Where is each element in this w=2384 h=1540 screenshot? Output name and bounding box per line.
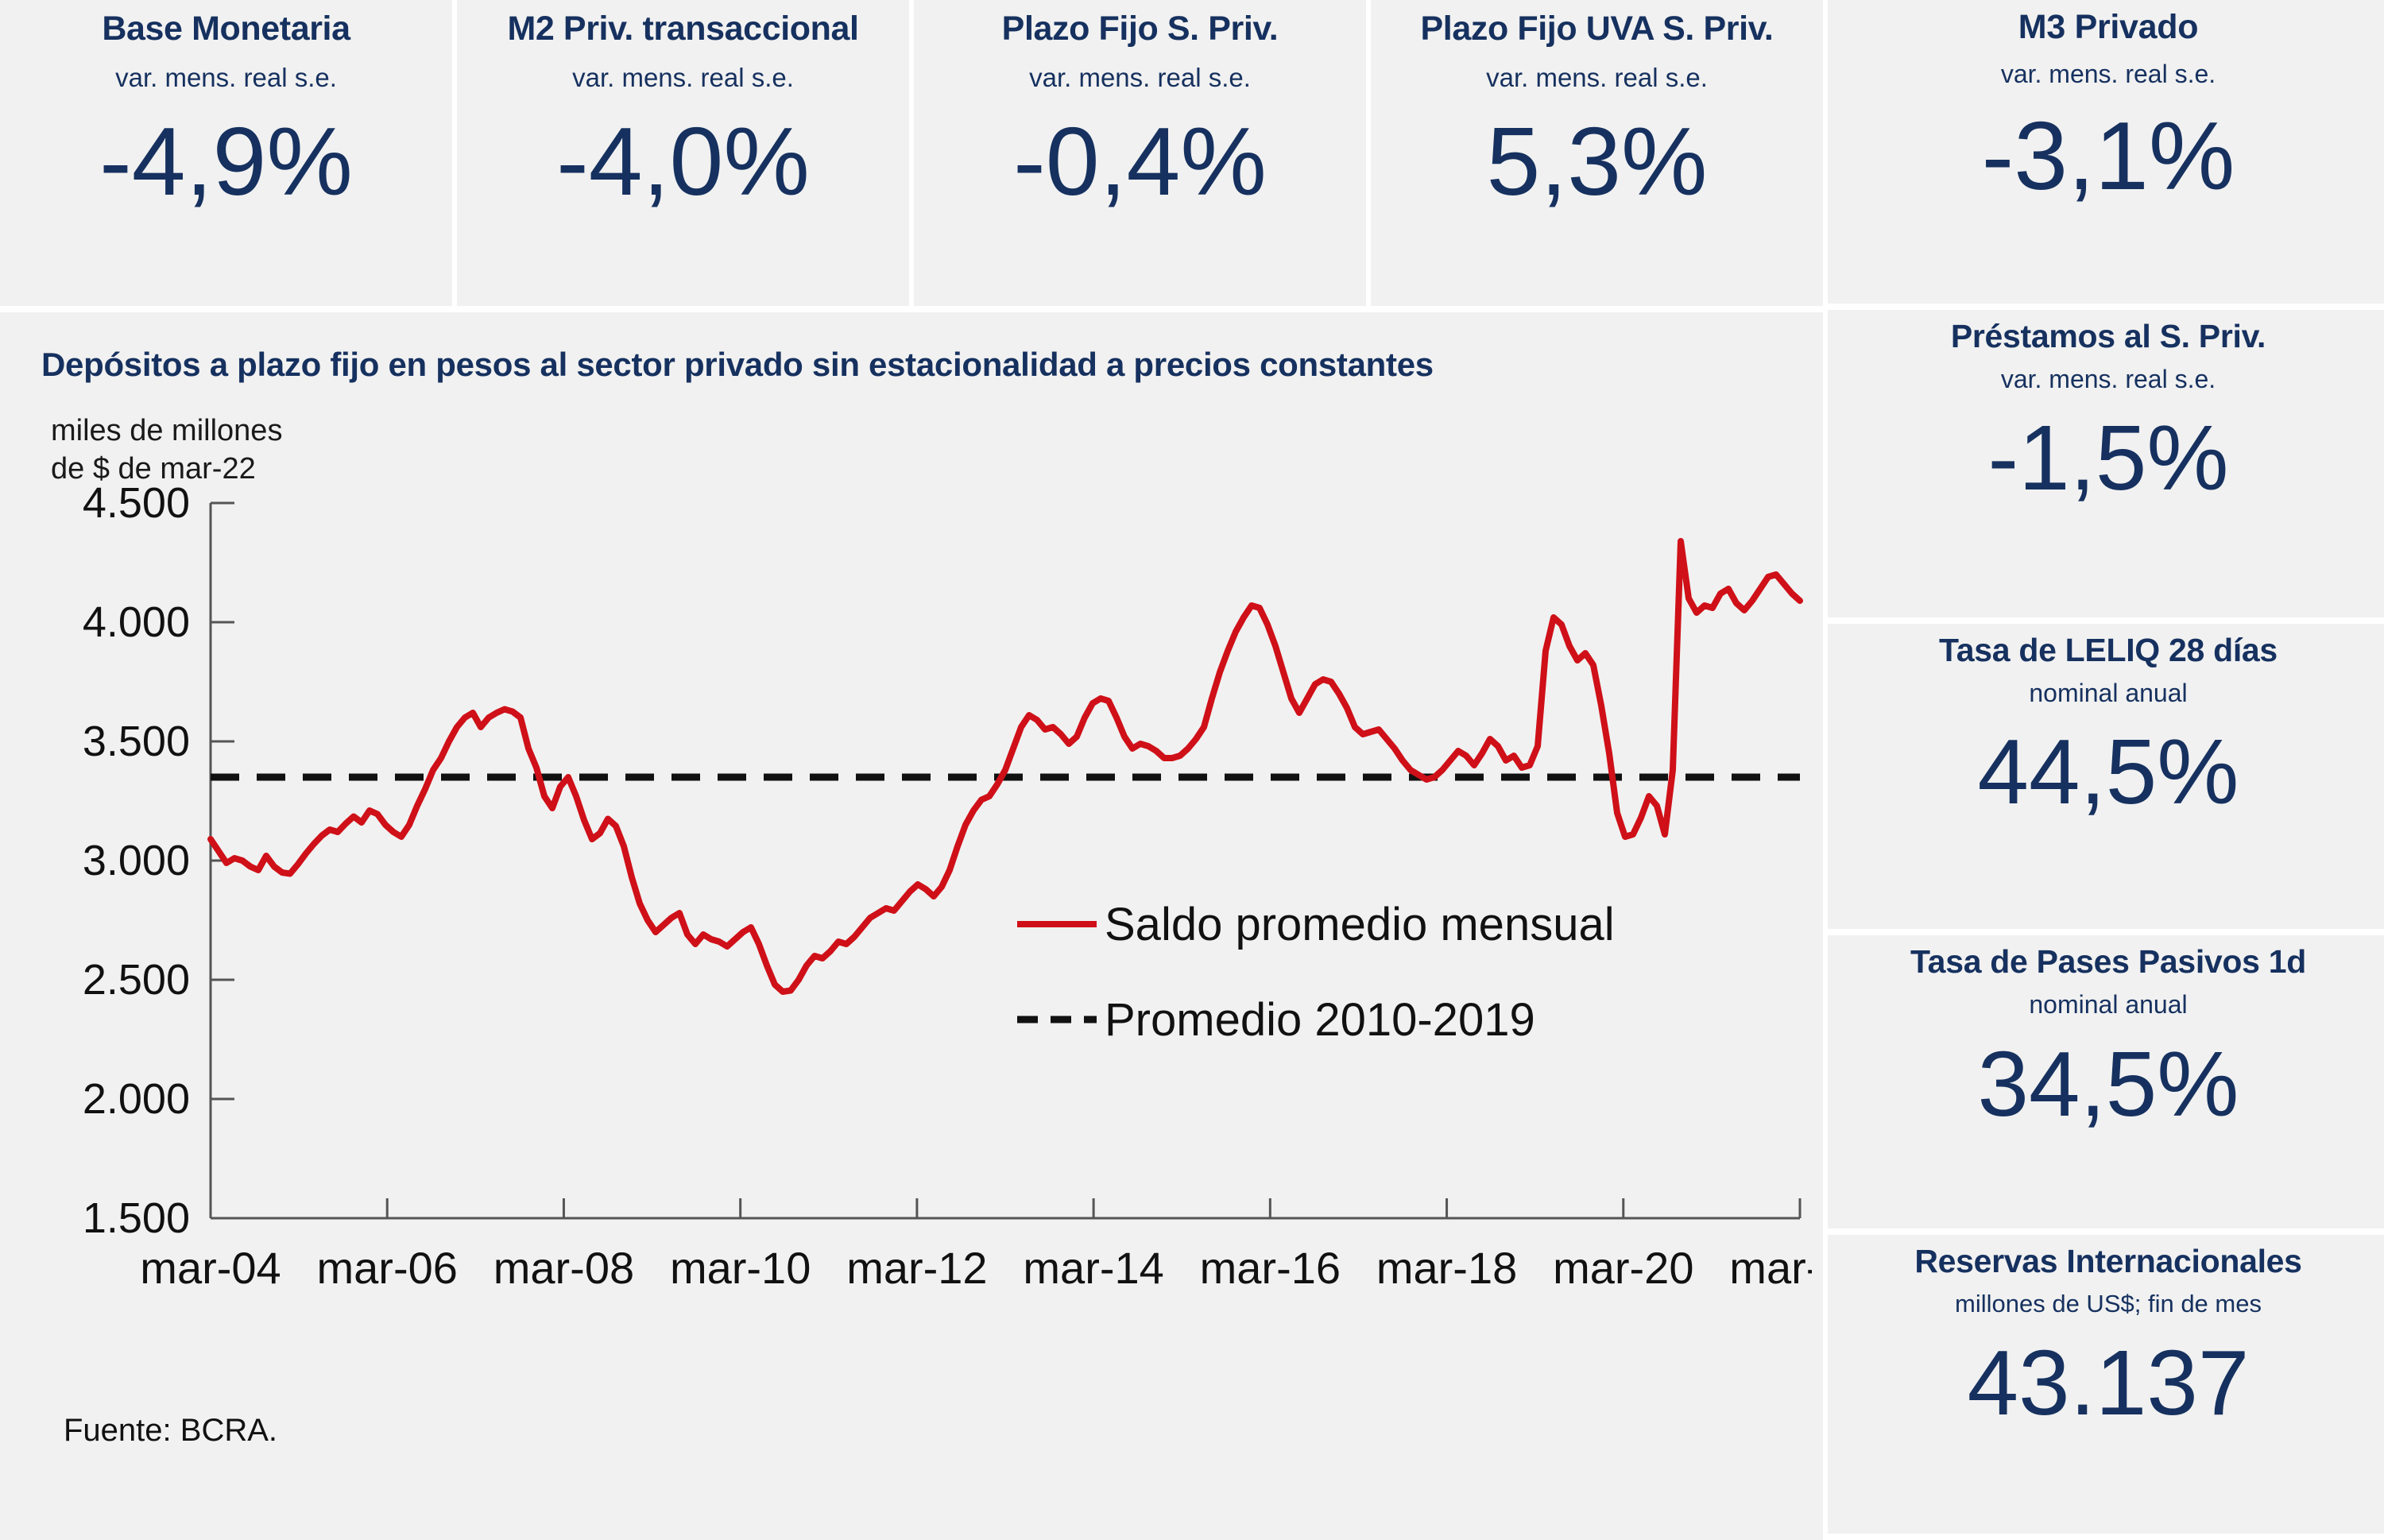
x-tick-label: mar-04 [140,1243,281,1293]
rail-subtitle: nominal anual [2029,992,2187,1019]
rail-value: 43.137 [1968,1337,2250,1429]
rail-card-reservas-internacionales[interactable]: Reservas Internacionales millones de US$… [1828,1235,2384,1534]
kpi-value: -0,4% [1013,113,1267,210]
legend-label-2: Promedio 2010-2019 [1105,994,1535,1046]
rail-title: Tasa de LELIQ 28 días [1939,633,2278,667]
x-tick-label: mar-08 [493,1243,634,1293]
kpi-card-m2-priv-transaccional[interactable]: M2 Priv. transaccional var. mens. real s… [457,0,909,306]
y-tick-label: 4.500 [83,479,190,527]
x-tick-label: mar-12 [846,1243,987,1293]
kpi-subtitle: var. mens. real s.e. [115,64,337,92]
x-tick-label: mar-22 [1729,1243,1812,1293]
y-tick-label: 4.000 [83,598,190,646]
x-tick-label: mar-10 [670,1243,811,1293]
kpi-title: Base Monetaria [102,11,350,47]
kpi-title: M2 Priv. transaccional [507,11,858,47]
kpi-title: Plazo Fijo UVA S. Priv. [1421,11,1774,47]
x-tick-label: mar-20 [1553,1243,1693,1293]
dashboard-root: Base Monetaria var. mens. real s.e. -4,9… [0,0,2384,1534]
rail-value: -1,5% [1987,412,2228,504]
x-axis-ticks [211,1198,1800,1218]
kpi-title: Plazo Fijo S. Priv. [1002,11,1279,47]
plot-area[interactable]: 4.5004.0003.5003.0002.5002.0001.500 mar-… [40,479,1812,1377]
x-tick-label: mar-18 [1376,1243,1517,1293]
rail-card-tasa-pases-pasivos-1d[interactable]: Tasa de Pases Pasivos 1d nominal anual 3… [1828,935,2384,1229]
kpi-subtitle: var. mens. real s.e. [572,64,794,92]
rail-card-m3-privado[interactable]: M3 Privado var. mens. real s.e. -3,1% [1828,0,2384,304]
y-tick-label: 2.000 [83,1075,190,1123]
line-chart-svg[interactable]: 4.5004.0003.5003.0002.5002.0001.500 mar-… [40,479,1812,1377]
rail-subtitle: var. mens. real s.e. [2001,61,2216,88]
rail-subtitle: millones de US$; fin de mes [1955,1291,2262,1318]
right-rail: M3 Privado var. mens. real s.e. -3,1% Pr… [1828,0,2384,1534]
rail-subtitle: var. mens. real s.e. [2001,366,2216,393]
kpi-subtitle: var. mens. real s.e. [1029,64,1251,92]
rail-value: 34,5% [1978,1038,2239,1130]
kpi-card-plazo-fijo-uva-s-priv[interactable]: Plazo Fijo UVA S. Priv. var. mens. real … [1371,0,1823,306]
rail-card-prestamos-al-s-priv[interactable]: Préstamos al S. Priv. var. mens. real s.… [1828,310,2384,617]
chart-axis-units: miles de millones de $ de mar-22 [51,412,282,488]
rail-card-tasa-leliq-28-dias[interactable]: Tasa de LELIQ 28 días nominal anual 44,5… [1828,624,2384,930]
y-axis-tick-labels: 4.5004.0003.5003.0002.5002.0001.500 [83,479,190,1242]
rail-title: Reservas Internacionales [1914,1244,2301,1279]
rail-subtitle: nominal anual [2029,680,2187,707]
chart-legend: Saldo promedio mensualPromedio 2010-2019 [1017,899,1615,1046]
rail-title: M3 Privado [2018,10,2198,45]
y-tick-label: 1.500 [83,1194,190,1242]
x-axis-tick-labels: mar-04mar-06mar-08mar-10mar-12mar-14mar-… [140,1243,1812,1293]
chart-source-note: Fuente: BCRA. [64,1413,277,1449]
kpi-strip: Base Monetaria var. mens. real s.e. -4,9… [0,0,1823,306]
kpi-card-base-monetaria[interactable]: Base Monetaria var. mens. real s.e. -4,9… [0,0,452,306]
y-tick-label: 2.500 [83,956,190,1004]
chart-panel: Depósitos a plazo fijo en pesos al secto… [0,312,1823,1540]
y-tick-label: 3.000 [83,837,190,884]
chart-title: Depósitos a plazo fijo en pesos al secto… [41,346,1434,384]
rail-title: Préstamos al S. Priv. [1951,319,2266,354]
rail-value: 44,5% [1978,726,2239,818]
kpi-value: -4,9% [99,113,353,210]
kpi-card-plazo-fijo-s-priv[interactable]: Plazo Fijo S. Priv. var. mens. real s.e.… [914,0,1366,306]
kpi-value: 5,3% [1486,113,1707,210]
x-tick-label: mar-14 [1023,1243,1163,1293]
kpi-subtitle: var. mens. real s.e. [1486,64,1708,92]
x-tick-label: mar-06 [317,1243,458,1293]
rail-value: -3,1% [1982,107,2235,204]
chart-units-line1: miles de millones [51,412,282,451]
rail-title: Tasa de Pases Pasivos 1d [1910,945,2306,979]
kpi-value: -4,0% [556,113,810,210]
y-tick-label: 3.500 [83,718,190,765]
legend-label-1: Saldo promedio mensual [1105,899,1615,950]
x-tick-label: mar-16 [1200,1243,1341,1293]
